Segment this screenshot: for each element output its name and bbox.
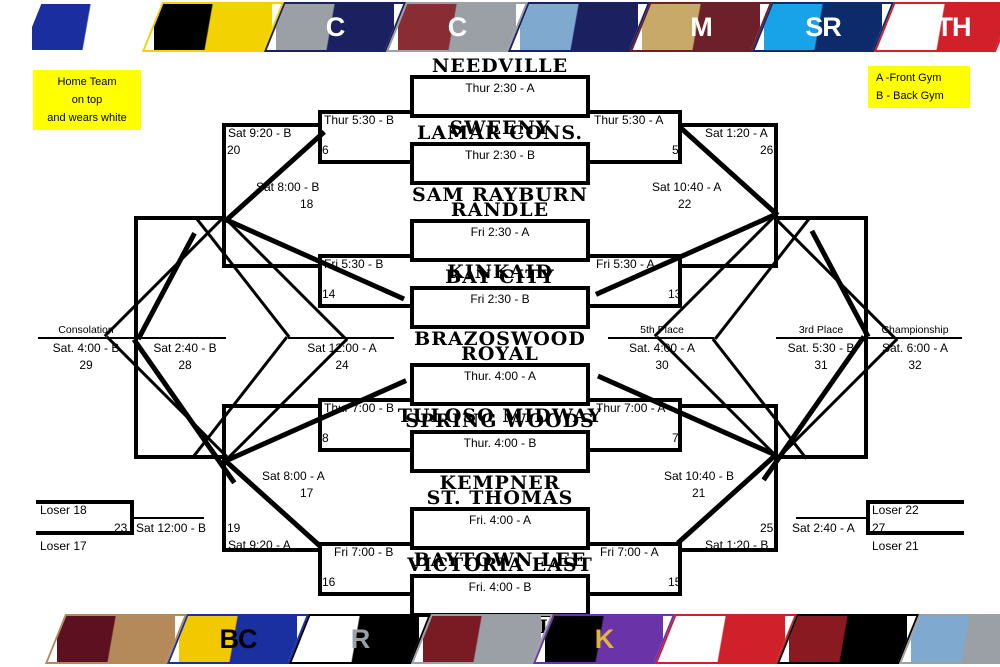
bracket-line xyxy=(774,460,778,552)
bracket-line xyxy=(318,592,414,596)
logo-sweeny-bulldogs xyxy=(142,2,284,52)
logo-mark: C xyxy=(276,4,394,50)
game-label-20-time: Sat 9:20 - B xyxy=(228,126,291,140)
match-box: Thur. 4:00 - B xyxy=(410,430,590,473)
logo-mark: M xyxy=(642,4,760,50)
loser-label-17: Loser 17 xyxy=(40,539,87,553)
logo-mark: R xyxy=(301,616,419,662)
round-header-championship: Championship xyxy=(868,324,962,336)
game-label-7-time: Thur 7:00 - A xyxy=(596,401,665,415)
logo-mark xyxy=(667,616,785,662)
game-label-20-num: 20 xyxy=(227,143,240,157)
game-label-18-num: 18 xyxy=(300,197,313,211)
game-label-19-time: Sat 9:20 - A xyxy=(228,538,291,552)
game-label-21-num: 21 xyxy=(692,486,705,500)
game-label-24-num: 24 xyxy=(290,358,394,372)
game-label-14-num: 14 xyxy=(322,287,335,301)
bracket-line xyxy=(136,337,226,339)
game-label-28-num: 28 xyxy=(140,358,230,372)
logo-mark xyxy=(32,4,150,50)
logo-mark: C xyxy=(398,4,516,50)
logo-st-thomas-eagles: STH xyxy=(874,2,1000,52)
match-time: Thur. 4:00 - B xyxy=(414,436,586,450)
loser-label-21: Loser 21 xyxy=(872,539,919,553)
bracket-line xyxy=(38,337,134,339)
team-name-top: VICTORIA EAST xyxy=(370,554,630,576)
game-label-17-num: 17 xyxy=(300,486,313,500)
bracket-line xyxy=(776,216,868,220)
team-name-top: ROYAL xyxy=(370,343,630,365)
team-name-top: BAY CITY xyxy=(370,266,630,288)
game-label-25-num: 25 xyxy=(760,521,773,535)
home-team-note: Home Team on top and wears white xyxy=(33,70,141,130)
home-team-note-line2: on top xyxy=(41,91,133,109)
game-label-27-num: 27 xyxy=(872,521,885,535)
logo-kinkaid-falcons: M xyxy=(630,2,772,52)
game-label-18-time: Sat 8:00 - B xyxy=(256,180,319,194)
home-team-note-line3: and wears white xyxy=(41,109,133,127)
logo-sam-rayburn-texans: C xyxy=(386,2,528,52)
game-label-5-num: 5 xyxy=(672,143,679,157)
game-label-26-time: Sat 1:20 - A xyxy=(705,126,768,140)
game-label-6-num: 6 xyxy=(322,143,329,157)
logo-mark: K xyxy=(545,616,663,662)
match-box: Fri. 4:00 - B xyxy=(410,574,590,617)
logo-tuloso-midway-warriors xyxy=(45,614,187,664)
logo-mark: BC xyxy=(179,616,297,662)
match-box: Fri 2:30 - B xyxy=(410,286,590,329)
team-name-top: RANDLE xyxy=(370,199,630,221)
bracket-diagonal xyxy=(810,230,871,338)
logo-mark: STH xyxy=(886,4,1000,50)
bracket-line xyxy=(288,337,394,339)
bracket-line xyxy=(222,123,226,216)
loser-bracket-line xyxy=(866,500,870,534)
match-baycity-brazoswood[interactable]: BAY CITY Fri 2:30 - B BRAZOSWOOD xyxy=(410,286,590,329)
logo-columbia-roughnecks xyxy=(777,614,919,664)
match-time: Fri 2:30 - B xyxy=(414,292,586,306)
game-label-19-num: 19 xyxy=(227,521,240,535)
game-label-31-num: 31 xyxy=(776,358,866,372)
game-label-17-time: Sat 8:00 - A xyxy=(262,469,325,483)
game-label-22-num: 22 xyxy=(678,197,691,211)
logo-mark xyxy=(789,616,907,662)
game-label-23-time: Sat 12:00 - B xyxy=(136,521,206,535)
team-name-top: LAMAR CONS. xyxy=(370,122,630,144)
bracket-line xyxy=(586,304,682,308)
game-label-30-num: 30 xyxy=(610,358,714,372)
team-name-top: ST. THOMAS xyxy=(370,487,630,509)
bracket-line xyxy=(318,160,414,164)
logo-bay-city-blackcats: BC xyxy=(167,614,309,664)
loser-bracket-line xyxy=(134,517,204,519)
match-box: Thur 2:30 - A xyxy=(410,75,590,118)
game-label-15-num: 15 xyxy=(668,575,681,589)
match-box: Thur 2:30 - B xyxy=(410,142,590,185)
match-springwoods-kempner[interactable]: SPRING WOODS Thur. 4:00 - B KEMPNER xyxy=(410,430,590,473)
bracket-line xyxy=(866,337,962,339)
game-label-25-time: Sat 1:20 - B xyxy=(705,538,768,552)
game-label-8-num: 8 xyxy=(322,431,329,445)
match-box: Thur. 4:00 - A xyxy=(410,363,590,406)
game-label-21-time: Sat 10:40 - B xyxy=(664,469,734,483)
loser-label-18: Loser 18 xyxy=(40,503,87,517)
team-name-top: NEEDVILLE xyxy=(370,55,630,77)
round-header-consolation: Consolation xyxy=(38,324,134,336)
bracket-line xyxy=(222,404,318,408)
logo-san-ramon-sr: SR xyxy=(752,2,894,52)
bracket-line xyxy=(776,337,866,339)
match-randle-kinkaid[interactable]: RANDLE Fri 2:30 - A KINKAID xyxy=(410,219,590,262)
bracket-line xyxy=(586,592,682,596)
bracket-line xyxy=(222,216,226,268)
match-time: Thur. 4:00 - A xyxy=(414,369,586,383)
game-label-32-time: Sat. 6:00 - A xyxy=(868,341,962,355)
game-label-24-time: Sat 12:00 - A xyxy=(290,341,394,355)
gym-legend-note: A -Front Gym B - Back Gym xyxy=(868,66,970,108)
bracket-line xyxy=(776,455,868,459)
logo-mark xyxy=(154,4,272,50)
game-label-7-num: 7 xyxy=(672,431,679,445)
bracket-diagonal xyxy=(136,232,197,340)
logo-needville-bluejays xyxy=(20,2,162,52)
bracket-line xyxy=(586,448,682,452)
bracket-line xyxy=(318,304,414,308)
home-team-note-line1: Home Team xyxy=(41,73,133,91)
bracket-page: CCMSRSTH Home Team on top and wears whit… xyxy=(0,0,1000,667)
bracket-diagonal xyxy=(654,215,776,337)
logo-mark: SR xyxy=(764,4,882,50)
match-needville-sweeny[interactable]: NEEDVILLE Thur 2:30 - A SWEENY xyxy=(410,75,590,118)
game-label-16-num: 16 xyxy=(322,575,335,589)
logo-randle-pirates xyxy=(508,2,650,52)
game-label-6-time: Thur 5:30 - B xyxy=(324,113,394,127)
round-header-fifth-place: 5th Place xyxy=(610,324,714,336)
game-label-28-time: Sat 2:40 - B xyxy=(140,341,230,355)
match-time: Fri. 4:00 - A xyxy=(414,513,586,527)
match-time: Fri. 4:00 - B xyxy=(414,580,586,594)
game-label-15-time: Fri 7:00 - A xyxy=(600,545,659,559)
logo-mark xyxy=(911,616,1000,662)
game-label-29-num: 29 xyxy=(38,358,134,372)
loser-label-22: Loser 22 xyxy=(872,503,919,517)
top-logo-strip: CCMSRSTH xyxy=(0,0,1000,52)
game-label-27-time: Sat 2:40 - A xyxy=(792,521,855,535)
bottom-logo-strip: BCRK xyxy=(0,612,1000,664)
game-label-8-time: Thur 7:00 - B xyxy=(324,401,394,415)
logo-mark xyxy=(57,616,175,662)
game-label-23-num: 23 xyxy=(114,521,127,535)
gym-legend-front: A -Front Gym xyxy=(876,69,962,87)
game-label-32-num: 32 xyxy=(868,358,962,372)
game-label-26-num: 26 xyxy=(760,143,773,157)
game-label-31-time: Sat. 5:30 - B xyxy=(776,341,866,355)
round-header-third-place: 3rd Place xyxy=(776,324,866,336)
logo-royal-falcons: R xyxy=(289,614,431,664)
logo-mark xyxy=(520,4,638,50)
match-victoriaeast-columbia[interactable]: VICTORIA EAST Fri. 4:00 - B COLUMBIA xyxy=(410,574,590,617)
logo-victoria-east-titans xyxy=(655,614,797,664)
bracket-line xyxy=(318,448,414,452)
game-label-14-time: Fri 5:30 - B xyxy=(324,257,383,271)
logo-mark xyxy=(423,616,541,662)
logo-kempner-cougars: K xyxy=(533,614,675,664)
game-label-13-time: Fri 5:30 - A xyxy=(596,257,655,271)
match-box: Fri 2:30 - A xyxy=(410,219,590,262)
game-label-16-time: Fri 7:00 - B xyxy=(334,545,393,559)
bracket-line xyxy=(134,216,226,220)
team-name-top: SPRING WOODS xyxy=(370,410,630,432)
match-stthomas-baytownlee[interactable]: ST. THOMAS Fri. 4:00 - A BAYTOWN LEE xyxy=(410,507,590,550)
loser-bracket-line xyxy=(796,517,866,519)
bracket-line xyxy=(586,160,682,164)
match-royal-tuloso[interactable]: ROYAL Thur. 4:00 - A TULOSO MIDWAY xyxy=(410,363,590,406)
match-time: Fri 2:30 - A xyxy=(414,225,586,239)
match-time: Thur 2:30 - B xyxy=(414,148,586,162)
logo-lamar-consolidated-mustangs: C xyxy=(264,2,406,52)
gym-legend-back: B - Back Gym xyxy=(876,87,962,105)
match-time: Thur 2:30 - A xyxy=(414,81,586,95)
game-label-5-time: Thur 5:30 - A xyxy=(594,113,663,127)
game-label-29-time: Sat. 4:00 - B xyxy=(38,341,134,355)
match-box: Fri. 4:00 - A xyxy=(410,507,590,550)
game-label-30-time: Sat. 4:00 - A xyxy=(610,341,714,355)
match-lamar-samrayburn[interactable]: LAMAR CONS. Thur 2:30 - B SAM RAYBURN xyxy=(410,142,590,185)
game-label-13-num: 13 xyxy=(668,287,681,301)
logo-brazoswood-buccaneers xyxy=(411,614,553,664)
game-label-22-time: Sat 10:40 - A xyxy=(652,180,721,194)
bracket-line xyxy=(774,123,778,216)
